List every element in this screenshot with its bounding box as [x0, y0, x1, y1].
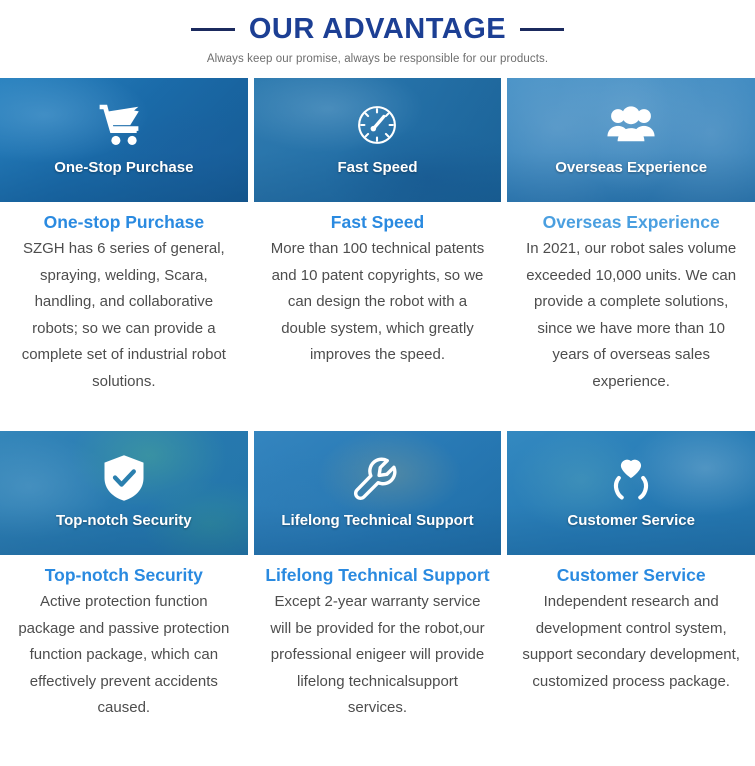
heart-in-hands-icon	[605, 452, 657, 504]
title-dash-left-icon	[191, 28, 235, 31]
card-title: Top-notch Security	[39, 564, 209, 587]
advantage-card[interactable]: One-Stop Purchase One-stop Purchase SZGH…	[0, 78, 248, 395]
card-media: Overseas Experience	[507, 78, 755, 202]
card-overlay-label: Lifelong Technical Support	[275, 512, 479, 530]
card-media: Lifelong Technical Support	[254, 431, 502, 555]
card-media-content: One-Stop Purchase	[0, 78, 248, 202]
card-body: SZGH has 6 series of general, spraying, …	[0, 234, 248, 395]
advantage-card[interactable]: Lifelong Technical Support Lifelong Tech…	[254, 431, 502, 722]
card-media: Customer Service	[507, 431, 755, 555]
card-overlay-label: Overseas Experience	[549, 159, 713, 177]
title-row: OUR ADVANTAGE	[0, 12, 755, 46]
advantage-card[interactable]: Fast Speed Fast Speed More than 100 tech…	[254, 78, 502, 395]
advantage-card[interactable]: Overseas Experience Overseas Experience …	[507, 78, 755, 395]
card-media: Fast Speed	[254, 78, 502, 202]
shield-check-icon	[98, 452, 150, 504]
speedometer-icon	[351, 99, 403, 151]
card-overlay-label: One-Stop Purchase	[48, 159, 199, 177]
wrench-icon	[351, 452, 403, 504]
advantage-card[interactable]: Top-notch Security Top-notch Security Ac…	[0, 431, 248, 722]
card-media-content: Fast Speed	[254, 78, 502, 202]
card-overlay-label: Fast Speed	[331, 159, 423, 177]
card-title: Customer Service	[551, 564, 712, 587]
card-body: In 2021, our robot sales volume exceeded…	[507, 234, 755, 395]
card-body: Independent research and development con…	[507, 587, 755, 695]
page-title: OUR ADVANTAGE	[249, 12, 506, 46]
card-media-content: Top-notch Security	[0, 431, 248, 555]
card-media-content: Customer Service	[507, 431, 755, 555]
card-overlay-label: Customer Service	[561, 512, 701, 530]
people-group-icon	[605, 99, 657, 151]
card-title: Lifelong Technical Support	[259, 564, 495, 587]
card-media-content: Lifelong Technical Support	[254, 431, 502, 555]
advantage-grid: One-Stop Purchase One-stop Purchase SZGH…	[0, 78, 755, 722]
card-overlay-label: Top-notch Security	[50, 512, 198, 530]
card-media: One-Stop Purchase	[0, 78, 248, 202]
title-dash-right-icon	[520, 28, 564, 31]
card-title: Fast Speed	[325, 211, 430, 234]
advantage-card[interactable]: Customer Service Customer Service Indepe…	[507, 431, 755, 722]
shopping-cart-icon	[98, 99, 150, 151]
card-body: Except 2-year warranty service will be p…	[254, 587, 502, 722]
card-media: Top-notch Security	[0, 431, 248, 555]
card-body: Active protection function package and p…	[0, 587, 248, 722]
card-title: Overseas Experience	[537, 211, 726, 234]
page-header: OUR ADVANTAGE Always keep our promise, a…	[0, 0, 755, 65]
card-body: More than 100 technical patents and 10 p…	[254, 234, 502, 369]
page-subtitle: Always keep our promise, always be respo…	[0, 53, 755, 65]
card-title: One-stop Purchase	[38, 211, 210, 234]
card-media-content: Overseas Experience	[507, 78, 755, 202]
